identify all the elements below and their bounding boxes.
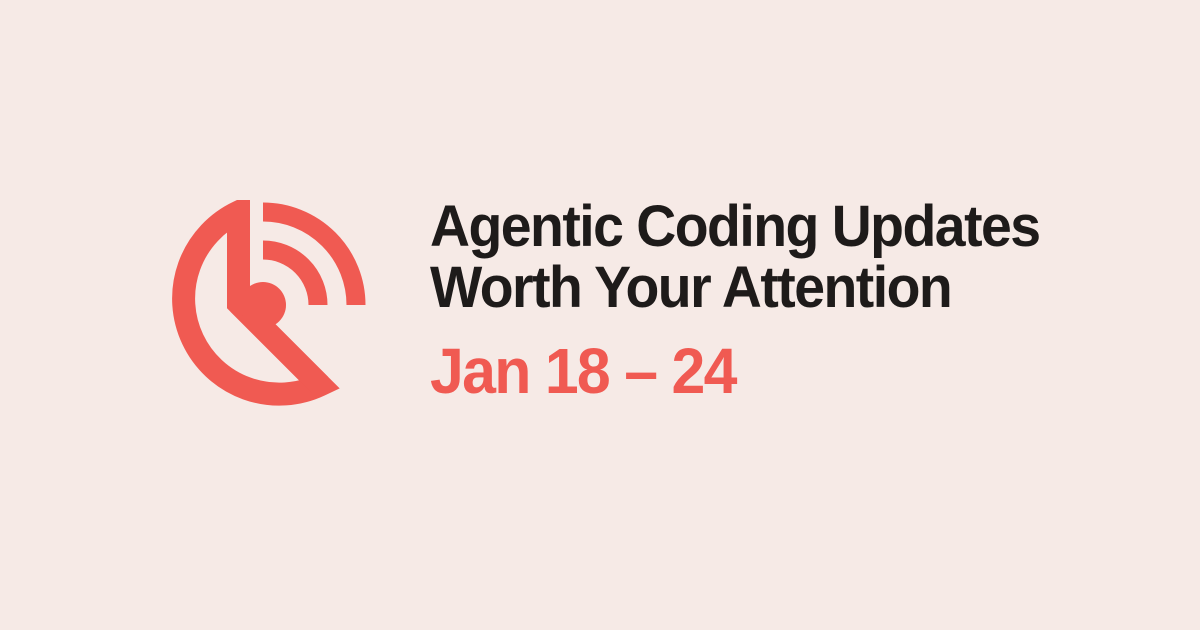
text-block: Agentic Coding Updates Worth Your Attent… bbox=[430, 196, 1130, 404]
headline-line-2: Worth Your Attention bbox=[430, 257, 1099, 318]
feed-horn bbox=[240, 282, 286, 328]
satellite-dish-icon bbox=[150, 200, 370, 425]
satellite-dish-svg bbox=[150, 200, 370, 425]
date-range-label: Jan 18 – 24 bbox=[430, 338, 1095, 404]
share-card: Agentic Coding Updates Worth Your Attent… bbox=[0, 0, 1200, 630]
headline-line-1: Agentic Coding Updates bbox=[430, 196, 1099, 257]
